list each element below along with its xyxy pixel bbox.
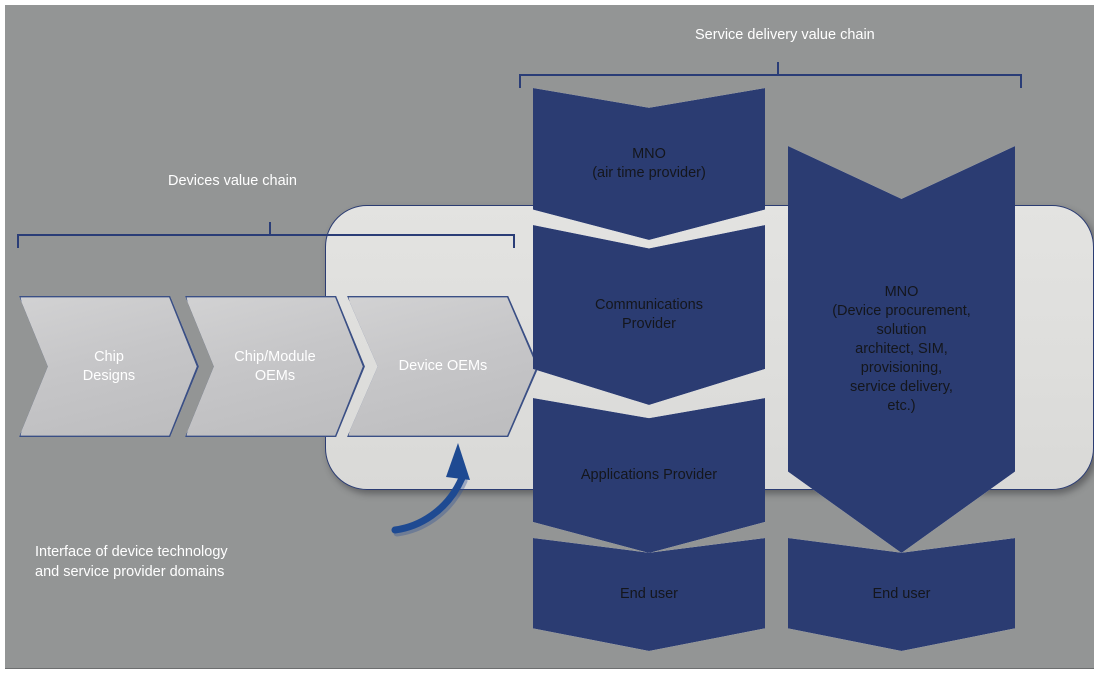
service-a-communications-provider[interactable]: Communications Provider [533, 225, 765, 405]
bottom-frame-line [5, 668, 1094, 669]
bracket-end-right [513, 234, 515, 248]
service-a-end-user[interactable]: End user [533, 538, 765, 651]
bracket-end-left [519, 74, 521, 88]
shape-label: Applications Provider [581, 466, 717, 485]
devices-chain-title: Devices value chain [168, 171, 428, 191]
bracket-tick [777, 62, 779, 75]
stage-chip-designs[interactable]: Chip Designs [19, 296, 199, 437]
bracket-tick [269, 222, 271, 235]
stage-label: Chip Designs [83, 348, 135, 386]
shape-label: Communications Provider [595, 296, 703, 334]
diagram-canvas: Service delivery value chain Devices val… [0, 0, 1099, 676]
stage-chip-module-oems[interactable]: Chip/Module OEMs [185, 296, 365, 437]
shape-label: End user [620, 585, 678, 604]
service-a-applications-provider[interactable]: Applications Provider [533, 398, 765, 553]
bracket-end-right [1020, 74, 1022, 88]
stage-label: Device OEMs [399, 357, 488, 376]
service-b-mno-details[interactable]: MNO (Device procurement, solution archit… [788, 146, 1015, 553]
bracket-end-left [17, 234, 19, 248]
diagram-stage: Service delivery value chain Devices val… [5, 5, 1094, 669]
interface-note: Interface of device technology and servi… [35, 542, 365, 582]
service-a-mno-airtime[interactable]: MNO (air time provider) [533, 88, 765, 240]
stage-label: Chip/Module OEMs [234, 348, 315, 386]
bracket-bar [519, 74, 1022, 76]
service-b-end-user[interactable]: End user [788, 538, 1015, 651]
shape-label: MNO (Device procurement, solution archit… [832, 283, 971, 416]
bracket-bar [17, 234, 515, 236]
shape-label: MNO (air time provider) [592, 145, 706, 183]
service-chain-title: Service delivery value chain [695, 25, 995, 45]
shape-label: End user [872, 585, 930, 604]
